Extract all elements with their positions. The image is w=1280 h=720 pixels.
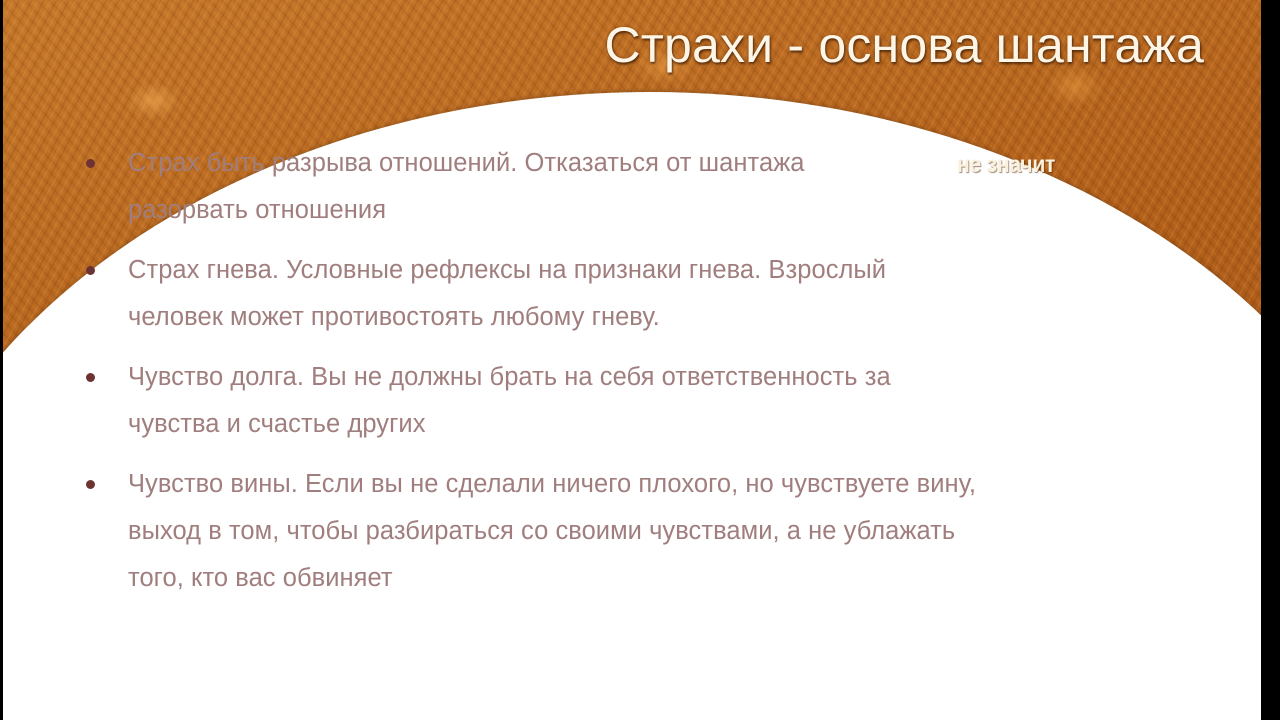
slide-title: Страхи - основа шантажа <box>0 14 1240 76</box>
overflow-text-on-background: не значит <box>957 149 1055 179</box>
bullet-line: выход в том, чтобы разбираться со своими… <box>128 508 1260 555</box>
list-item: Чувство долга. Вы не должны брать на себ… <box>80 354 1260 448</box>
letterbox-bar-left <box>0 0 3 720</box>
presentation-slide: Страхи - основа шантажа Страх быть разры… <box>0 0 1280 720</box>
bullet-line: того, кто вас обвиняет <box>128 555 1260 602</box>
bullet-line: человек может противостоять любому гневу… <box>128 294 1260 341</box>
bullet-line: разорвать отношения <box>128 187 1260 234</box>
letterbox-bar-right <box>1261 0 1280 720</box>
bullet-list: Страх быть разрыва отношений. Отказаться… <box>80 140 1260 615</box>
bullet-line: Страх гнева. Условные рефлексы на призна… <box>128 247 1260 294</box>
bullet-line: чувства и счастье других <box>128 401 1260 448</box>
list-item: Страх быть разрыва отношений. Отказаться… <box>80 140 1260 234</box>
list-item: Чувство вины. Если вы не сделали ничего … <box>80 461 1260 602</box>
bullet-line: Чувство вины. Если вы не сделали ничего … <box>128 461 1260 508</box>
bullet-line: Чувство долга. Вы не должны брать на себ… <box>128 354 1260 401</box>
list-item: Страх гнева. Условные рефлексы на призна… <box>80 247 1260 341</box>
bullet-line: Страх быть разрыва отношений. Отказаться… <box>128 140 1260 187</box>
